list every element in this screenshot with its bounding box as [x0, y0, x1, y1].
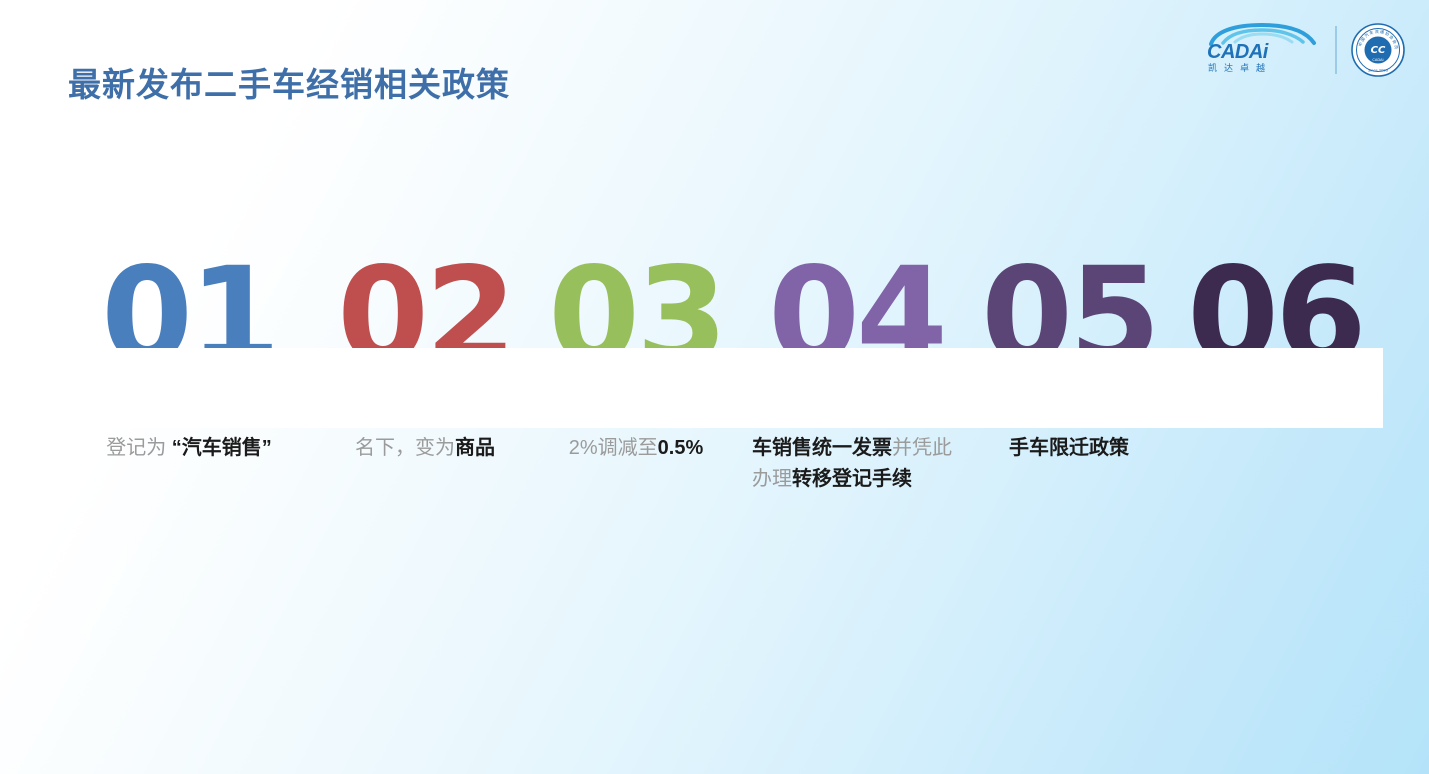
card-number-clip: 05 [970, 250, 1168, 348]
card-body-02: 车辆转移登记在公司名下，变为商品 [320, 402, 530, 464]
card-number-clip: 01 [58, 250, 320, 348]
slide-canvas: 最新发布二手车经销相关政策 CADAi 凯达卓越 CC CADAI Since … [0, 0, 1429, 774]
card-number-01: 01 [58, 250, 320, 348]
card-heading-04: 开具统一发票 [742, 358, 970, 386]
card-heading-01: 二手车销售资质 [58, 358, 320, 386]
policy-card-row: 01 二手车销售资质 市场外二手车经销企业统一登记为 “汽车销售” 02 商品属… [0, 250, 1429, 570]
card-body-03: 二手车经销增值税从2%调减至0.5% [530, 402, 742, 464]
policy-card-04: 04 开具统一发票 允许企业反向开具二手车销售统一发票并凭此办理转移登记手续 [742, 250, 970, 495]
logo-divider [1335, 26, 1337, 74]
card-number-clip: 06 [1168, 250, 1382, 348]
policy-card-03: 03 税减至0.5% 二手车经销增值税从2%调减至0.5% [530, 250, 742, 464]
policy-card-02: 02 商品属性 车辆转移登记在公司名下，变为商品 [320, 250, 530, 464]
cc-association-seal: CC CADAI Since 2003 中国汽车流通协会会员单位 [1351, 23, 1405, 77]
policy-card-05: 05 国五流通 严格落实全面取消二手车限迁政策 [970, 250, 1168, 464]
logo-area: CADAi 凯达卓越 CC CADAI Since 2003 中国汽车流通协会会… [1203, 22, 1405, 78]
policy-card-01: 01 二手车销售资质 市场外二手车经销企业统一登记为 “汽车销售” [58, 250, 320, 464]
svg-text:CC: CC [1371, 45, 1386, 56]
card-number-06: 06 [1168, 250, 1382, 348]
cadai-subtext: 凯达卓越 [1208, 64, 1272, 73]
card-body-05: 严格落实全面取消二手车限迁政策 [970, 402, 1168, 464]
cadai-logo: CADAi 凯达卓越 [1203, 22, 1321, 78]
card-number-clip: 02 [320, 250, 530, 348]
policy-card-06: 06 限制个人台数 每年每人过户三次 [1168, 250, 1382, 433]
card-heading-02: 商品属性 [320, 358, 530, 386]
card-heading-05: 国五流通 [970, 358, 1168, 386]
card-number-clip: 03 [530, 250, 742, 348]
card-body-04: 允许企业反向开具二手车销售统一发票并凭此办理转移登记手续 [742, 402, 970, 495]
card-number-clip: 04 [742, 250, 970, 348]
card-number-02: 02 [320, 250, 530, 348]
card-body-06: 每年每人过户三次 [1168, 402, 1382, 433]
card-body-01: 市场外二手车经销企业统一登记为 “汽车销售” [58, 402, 320, 464]
svg-text:Since 2003: Since 2003 [1368, 69, 1388, 73]
card-number-05: 05 [970, 250, 1168, 348]
page-title: 最新发布二手车经销相关政策 [68, 58, 510, 106]
cadai-wordmark: CADAi [1207, 42, 1268, 62]
card-heading-03: 税减至0.5% [530, 358, 742, 386]
card-number-04: 04 [742, 250, 970, 348]
card-heading-06: 限制个人台数 [1168, 358, 1382, 386]
card-number-03: 03 [530, 250, 742, 348]
svg-text:CADAI: CADAI [1372, 58, 1383, 62]
